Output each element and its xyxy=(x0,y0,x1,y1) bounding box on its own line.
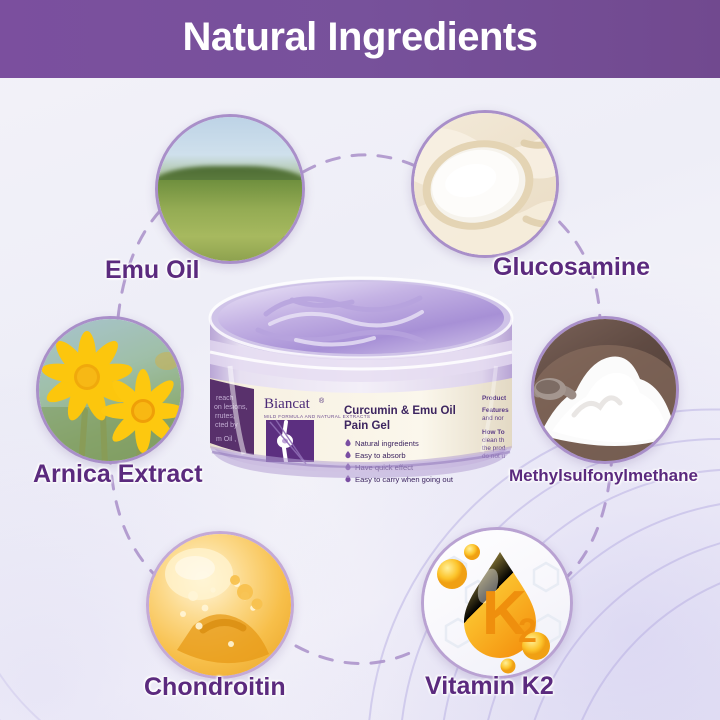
svg-text:on lesions,: on lesions, xyxy=(214,404,248,411)
ingredient-glucosamine[interactable]: Glucosamine xyxy=(411,110,559,258)
ingredient-label-methylsulfonylmethane: Methylsulfonylmethane xyxy=(509,466,698,486)
svg-text:2: 2 xyxy=(518,612,537,650)
ingredient-arnica-extract[interactable]: Arnica Extract xyxy=(36,316,184,464)
ingredient-chondroitin[interactable]: Chondroitin xyxy=(146,531,294,679)
svg-text:Product: Product xyxy=(482,395,507,402)
svg-text:Features: Features xyxy=(482,407,509,414)
svg-text:Curcumin & Emu Oil: Curcumin & Emu Oil xyxy=(344,405,456,417)
ingredient-vitamin-k2[interactable]: K 2 Vitamin K2 xyxy=(421,527,573,679)
ingredients-infographic: Natural Ingredients xyxy=(0,0,720,720)
emu-birds-photo xyxy=(155,114,305,264)
ingredient-label-emu-oil: Emu Oil xyxy=(105,256,199,285)
ingredient-label-arnica-extract: Arnica Extract xyxy=(33,460,203,489)
svg-text:Pain Gel: Pain Gel xyxy=(344,420,390,432)
svg-text:and nor: and nor xyxy=(482,415,505,422)
header-banner: Natural Ingredients xyxy=(0,0,720,78)
msm-white-powder-photo xyxy=(531,316,679,464)
svg-text:rrutes,: rrutes, xyxy=(215,413,235,420)
ingredient-emu-oil[interactable]: Emu Oil xyxy=(155,114,305,264)
arnica-flowers-photo xyxy=(36,316,184,464)
svg-text:Easy to absorb: Easy to absorb xyxy=(355,451,406,460)
svg-text:Natural ingredients: Natural ingredients xyxy=(355,439,419,448)
chondroitin-gel-drop-illustration xyxy=(146,531,294,679)
svg-text:Biancat: Biancat xyxy=(264,396,311,412)
page-title: Natural Ingredients xyxy=(182,17,537,61)
ingredient-label-vitamin-k2: Vitamin K2 xyxy=(425,672,554,701)
ingredient-label-chondroitin: Chondroitin xyxy=(144,673,286,702)
glucosamine-powder-bowl-photo xyxy=(411,110,559,258)
ingredient-methylsulfonylmethane[interactable]: Methylsulfonylmethane xyxy=(531,316,679,464)
svg-text:cted by: cted by xyxy=(215,422,238,429)
vitamin-k2-droplet-illustration: K 2 xyxy=(421,527,573,679)
svg-text:®: ® xyxy=(319,397,325,405)
product-jar[interactable]: reach on lesions, rrutes, cted by m Oil … xyxy=(196,266,526,506)
svg-text:m Oil ,: m Oil , xyxy=(216,436,236,443)
